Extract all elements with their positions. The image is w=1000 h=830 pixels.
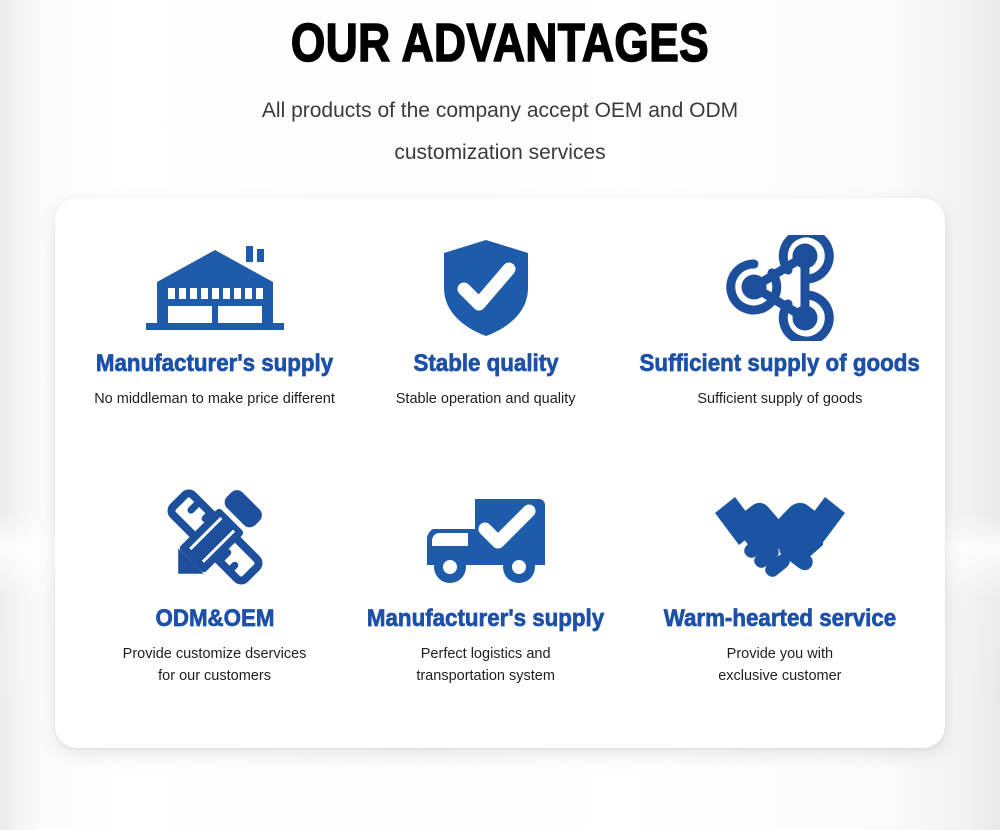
advantage-item-manufacturers-supply[interactable]: Manufacturer's supply No middleman to ma…: [79, 232, 350, 477]
advantage-description-line-1: Perfect logistics and: [416, 643, 555, 665]
advantage-description: No middleman to make price different: [94, 388, 335, 410]
advantage-description-line-2: transportation system: [416, 665, 555, 687]
advantage-description: Provide customize dservices for our cust…: [123, 643, 307, 687]
advantage-item-warm-hearted-service[interactable]: Warm-hearted service Provide you with ex…: [621, 477, 938, 722]
page-subtitle: All products of the company accept OEM a…: [0, 90, 1000, 174]
advantage-description-line-1: Sufficient supply of goods: [697, 388, 862, 410]
shield-check-icon: [436, 232, 536, 344]
pencil-ruler-icon: [159, 477, 271, 597]
advantage-description-line-1: Stable operation and quality: [396, 388, 576, 410]
factory-icon: [140, 232, 290, 344]
page-title: OUR ADVANTAGES: [90, 12, 910, 74]
advantage-title: Manufacturer's supply: [367, 605, 604, 633]
advantage-item-logistics[interactable]: Manufacturer's supply Perfect logistics …: [350, 477, 621, 722]
advantage-item-stable-quality[interactable]: Stable quality Stable operation and qual…: [350, 232, 621, 477]
advantage-item-odm-oem[interactable]: ODM&OEM Provide customize dservices for …: [79, 477, 350, 722]
our-advantages-page: OUR ADVANTAGES All products of the compa…: [0, 0, 1000, 830]
handshake-icon: [709, 477, 851, 597]
advantage-description: Stable operation and quality: [396, 388, 576, 410]
advantage-title: ODM&OEM: [155, 605, 274, 633]
advantage-description-line-2: exclusive customer: [718, 665, 841, 687]
advantage-item-sufficient-supply[interactable]: Sufficient supply of goods Sufficient su…: [621, 232, 938, 477]
page-header: OUR ADVANTAGES All products of the compa…: [0, 0, 1000, 174]
advantage-description-line-1: Provide you with: [718, 643, 841, 665]
advantage-description-line-1: No middleman to make price different: [94, 388, 335, 410]
advantage-title: Sufficient supply of goods: [640, 350, 920, 378]
delivery-truck-check-icon: [419, 477, 553, 597]
advantage-description-line-2: for our customers: [123, 665, 307, 687]
advantages-card: Manufacturer's supply No middleman to ma…: [55, 198, 945, 748]
advantage-description-line-1: Provide customize dservices: [123, 643, 307, 665]
advantage-title: Stable quality: [413, 350, 558, 378]
advantage-title: Warm-hearted service: [664, 605, 896, 633]
advantage-title: Manufacturer's supply: [96, 350, 333, 378]
advantages-grid: Manufacturer's supply No middleman to ma…: [55, 198, 945, 748]
advantage-description: Provide you with exclusive customer: [718, 643, 841, 687]
advantage-description: Sufficient supply of goods: [697, 388, 862, 410]
subtitle-line-1: All products of the company accept OEM a…: [0, 90, 1000, 132]
subtitle-line-2: customization services: [0, 132, 1000, 174]
network-share-icon: [725, 232, 835, 344]
advantage-description: Perfect logistics and transportation sys…: [416, 643, 555, 687]
